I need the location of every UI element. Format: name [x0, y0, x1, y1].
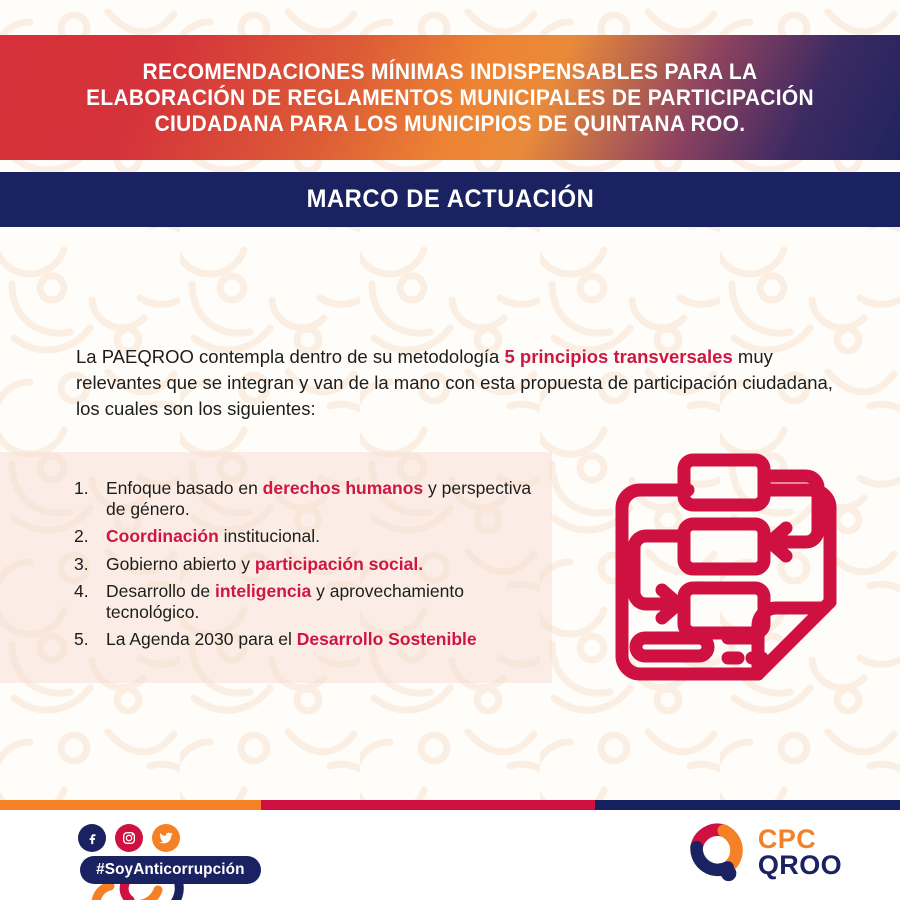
- list-item-accent-text: Desarrollo Sostenible: [297, 629, 477, 649]
- footer-stripes: [0, 800, 900, 810]
- list-item: 1.Enfoque basado en derechos humanos y p…: [74, 478, 544, 519]
- list-item-text: Coordinación institucional.: [106, 526, 544, 547]
- list-item-plain-text: La Agenda 2030 para el: [106, 629, 297, 649]
- header-banner: RECOMENDACIONES MÍNIMAS INDISPENSABLES P…: [0, 35, 900, 160]
- instagram-icon[interactable]: [115, 824, 143, 852]
- list-item-number: 2.: [74, 526, 106, 547]
- stripe-navy: [595, 800, 900, 810]
- list-item-number: 4.: [74, 581, 106, 602]
- intro-text-part1: La PAEQROO contempla dentro de su metodo…: [76, 346, 504, 367]
- cpc-qroo-logo: CPC QROO: [685, 822, 842, 884]
- list-item-plain-text: Desarrollo de: [106, 581, 215, 601]
- intro-highlight: 5 principios transversales: [504, 346, 732, 367]
- social-icons[interactable]: [78, 824, 180, 852]
- section-banner: MARCO DE ACTUACIÓN: [0, 172, 900, 227]
- list-item-accent-text: participación social.: [255, 554, 423, 574]
- list-item-number: 5.: [74, 629, 106, 650]
- facebook-icon[interactable]: [78, 824, 106, 852]
- list-item: 5.La Agenda 2030 para el Desarrollo Sost…: [74, 629, 544, 650]
- principles-panel: 1.Enfoque basado en derechos humanos y p…: [0, 452, 552, 683]
- list-item-number: 1.: [74, 478, 106, 499]
- intro-paragraph: La PAEQROO contempla dentro de su metodo…: [76, 344, 836, 422]
- list-item-text: Desarrollo de inteligencia y aprovechami…: [106, 581, 544, 622]
- principles-list: 1.Enfoque basado en derechos humanos y p…: [74, 478, 544, 657]
- list-item-text: Enfoque basado en derechos humanos y per…: [106, 478, 544, 519]
- list-item-plain-text: institucional.: [219, 526, 320, 546]
- list-item-accent-text: inteligencia: [215, 581, 311, 601]
- list-item: 3.Gobierno abierto y participación socia…: [74, 554, 544, 575]
- stripe-orange: [0, 800, 261, 810]
- list-item: 2.Coordinación institucional.: [74, 526, 544, 547]
- list-item-text: Gobierno abierto y participación social.: [106, 554, 544, 575]
- logo-wordmark: CPC QROO: [758, 827, 842, 878]
- list-item-accent-text: Coordinación: [106, 526, 219, 546]
- stripe-crimson: [261, 800, 595, 810]
- hashtag-label: #SoyAnticorrupción: [96, 861, 245, 879]
- list-item-plain-text: Gobierno abierto y: [106, 554, 255, 574]
- poster-canvas: RECOMENDACIONES MÍNIMAS INDISPENSABLES P…: [0, 0, 900, 900]
- list-item: 4.Desarrollo de inteligencia y aprovecha…: [74, 581, 544, 622]
- list-item-accent-text: derechos humanos: [263, 478, 423, 498]
- twitter-icon[interactable]: [152, 824, 180, 852]
- list-item-plain-text: Enfoque basado en: [106, 478, 263, 498]
- section-title: MARCO DE ACTUACIÓN: [306, 185, 594, 214]
- footer: #SoyAnticorrupción CPC QROO: [0, 800, 900, 900]
- list-item-number: 3.: [74, 554, 106, 575]
- list-item-text: La Agenda 2030 para el Desarrollo Sosten…: [106, 629, 544, 650]
- flowchart-document-icon: [600, 448, 850, 688]
- hashtag-badge[interactable]: #SoyAnticorrupción: [80, 856, 261, 884]
- logo-line-qroo: QROO: [758, 853, 842, 879]
- page-title: RECOMENDACIONES MÍNIMAS INDISPENSABLES P…: [64, 59, 836, 137]
- social-block: #SoyAnticorrupción: [78, 824, 338, 894]
- logo-mark-icon: [685, 822, 747, 884]
